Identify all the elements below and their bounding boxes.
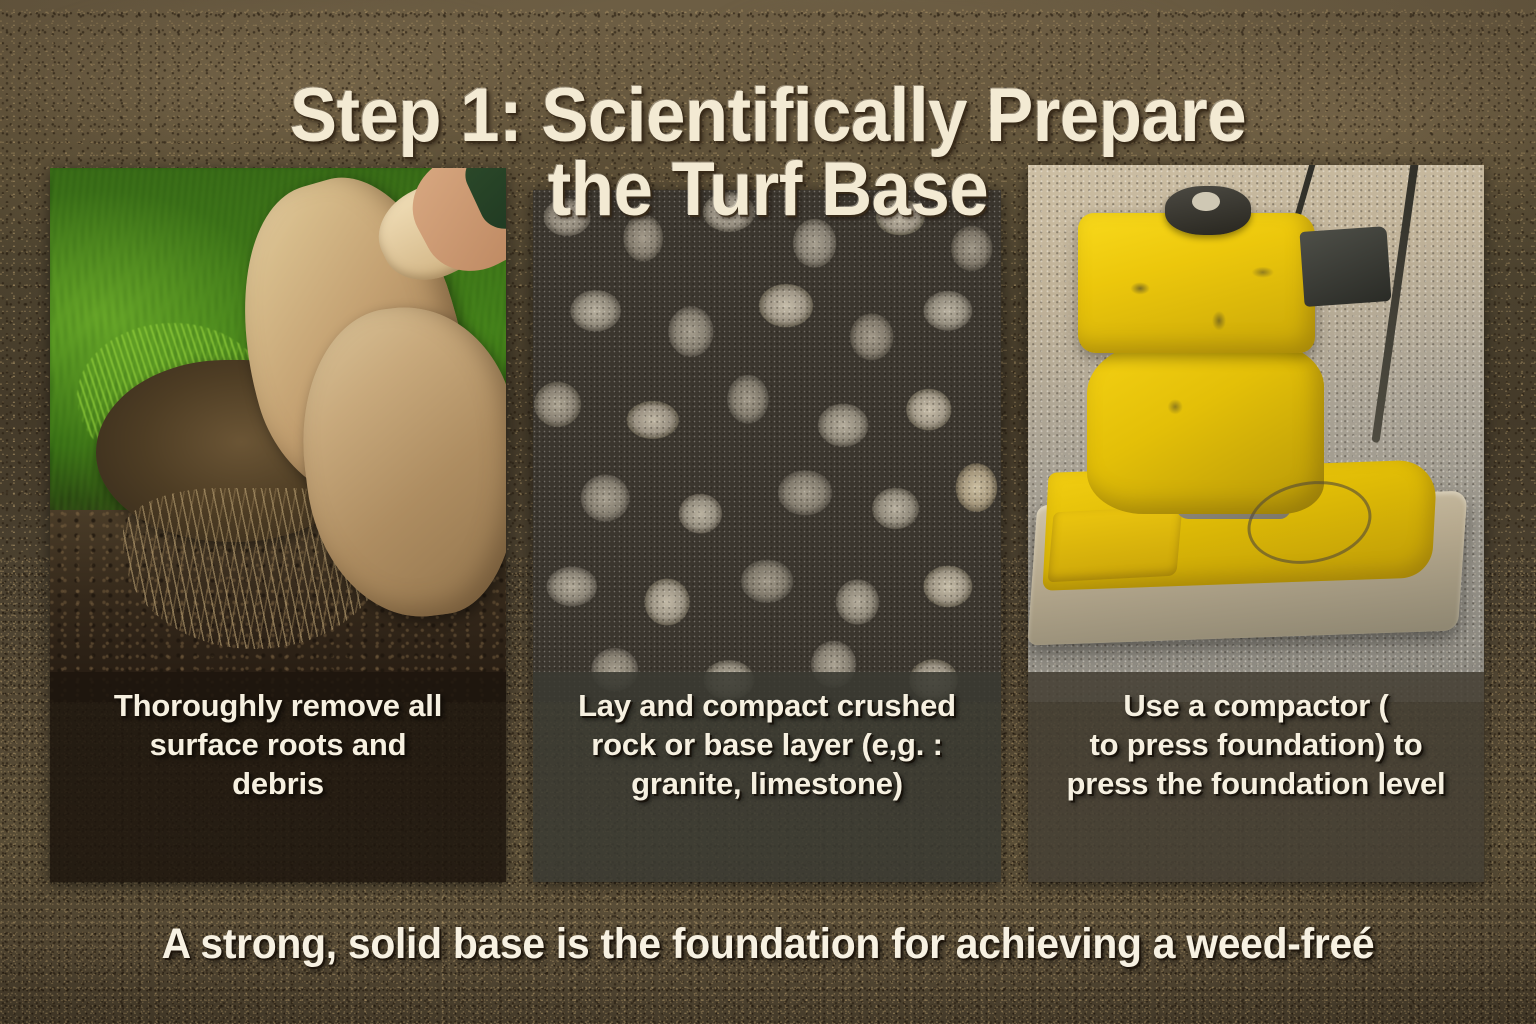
infographic-canvas: Step 1: Scientifically Prepare the Turf …: [0, 0, 1536, 1024]
compactor-front-pad: [1047, 505, 1182, 581]
caption-2-line-3: granite, limestone): [543, 764, 991, 803]
caption-panel-1: Thoroughly remove all surface roots and …: [50, 672, 506, 882]
caption-1-line-3: debris: [60, 764, 496, 803]
photo-crushed-granite-gravel-base: [533, 190, 1001, 702]
caption-2-line-2: rock or base layer (e,g. :: [543, 725, 991, 764]
fuel-cap-label: [1192, 192, 1219, 211]
caption-3-line-1: Use a compactor (: [1038, 686, 1474, 725]
caption-2-line-1: Lay and compact crushed: [543, 686, 991, 725]
photo-gloved-hands-removing-sod-roots: [50, 168, 506, 702]
step-panel-compactor[interactable]: Use a compactor ( to press foundation) t…: [1028, 165, 1484, 882]
compactor-air-filter: [1299, 227, 1391, 308]
caption-3-line-3: press the foundation level: [1038, 764, 1474, 803]
caption-panel-3: Use a compactor ( to press foundation) t…: [1028, 672, 1484, 882]
caption-1-line-2: surface roots and: [60, 725, 496, 764]
step-panel-crushed-rock[interactable]: Lay and compact crushed rock or base lay…: [533, 190, 1001, 882]
granite-speckle-texture: [533, 190, 1001, 702]
paint-chips-wear: [1092, 240, 1311, 509]
step-panel-remove-roots[interactable]: Thoroughly remove all surface roots and …: [50, 168, 506, 882]
caption-1-line-1: Thoroughly remove all: [60, 686, 496, 725]
caption-3-line-2: to press foundation) to: [1038, 725, 1474, 764]
photo-yellow-plate-compactor: [1028, 165, 1484, 702]
caption-panel-2: Lay and compact crushed rock or base lay…: [533, 672, 1001, 882]
